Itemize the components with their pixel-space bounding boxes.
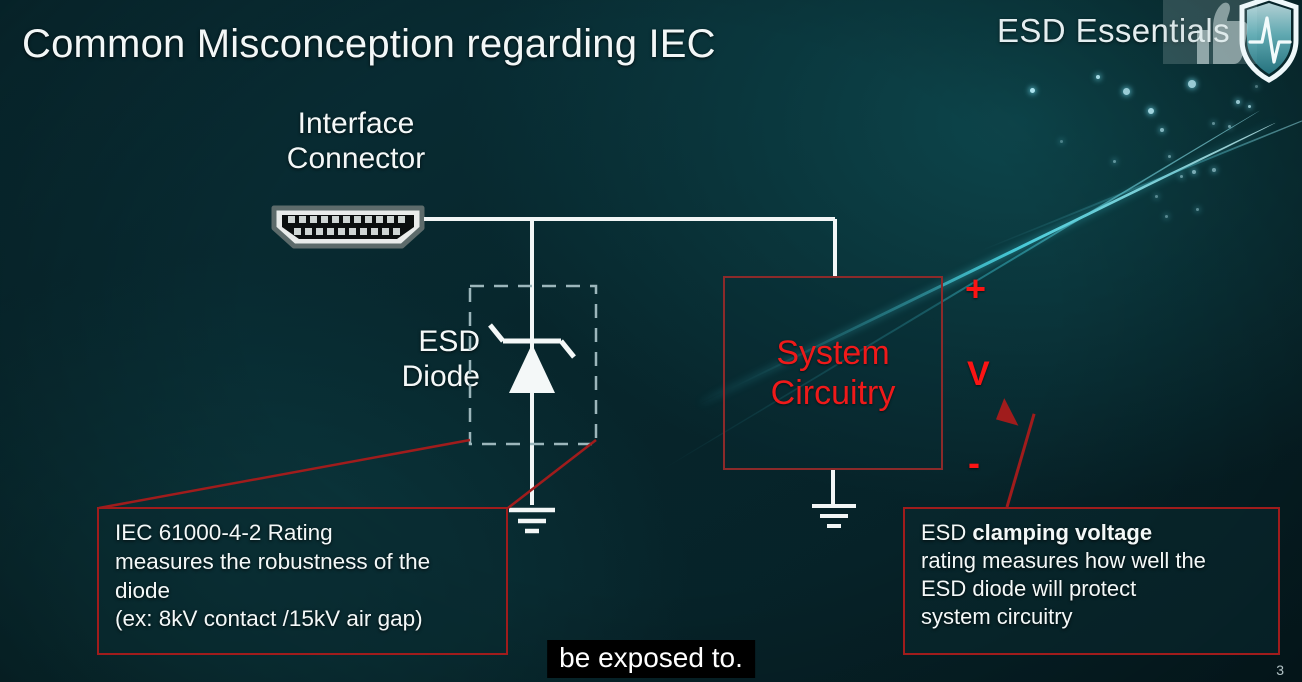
clamping-voltage-callout: ESD clamping voltage rating measures how… <box>903 507 1280 655</box>
clamping-callout-line4: system circuitry <box>921 603 1264 631</box>
clamping-callout-line3: ESD diode will protect <box>921 575 1264 603</box>
iec-callout-line2: measures the robustness of the <box>115 548 492 577</box>
iec-callout-line3: diode <box>115 577 492 606</box>
system-circuitry-label-line2: Circuitry <box>771 373 896 413</box>
clamping-callout-arrow <box>996 397 1037 507</box>
ground-icon-diode <box>509 510 555 531</box>
iec-callout-line4: (ex: 8kV contact /15kV air gap) <box>115 605 492 634</box>
clamping-callout-line1-prefix: ESD <box>921 520 972 545</box>
polarity-minus-label: - <box>968 442 980 484</box>
iec-callout-leader <box>99 440 596 508</box>
video-caption: be exposed to. <box>547 640 755 678</box>
slide-root: Common Misconception regarding IEC ESD E… <box>0 0 1302 682</box>
system-circuitry-block: System Circuitry <box>723 276 943 470</box>
polarity-voltage-label: V <box>967 355 990 394</box>
system-circuitry-label-line1: System <box>776 333 889 373</box>
clamping-callout-line1-emphasis: clamping voltage <box>972 520 1152 545</box>
polarity-plus-label: + <box>965 268 986 310</box>
clamping-callout-line1: ESD clamping voltage <box>921 519 1264 547</box>
iec-rating-callout: IEC 61000-4-2 Rating measures the robust… <box>97 507 508 655</box>
page-number: 3 <box>1276 662 1284 678</box>
clamping-callout-line2: rating measures how well the <box>921 547 1264 575</box>
iec-callout-line1: IEC 61000-4-2 Rating <box>115 519 492 548</box>
ground-icon-system <box>812 470 856 526</box>
